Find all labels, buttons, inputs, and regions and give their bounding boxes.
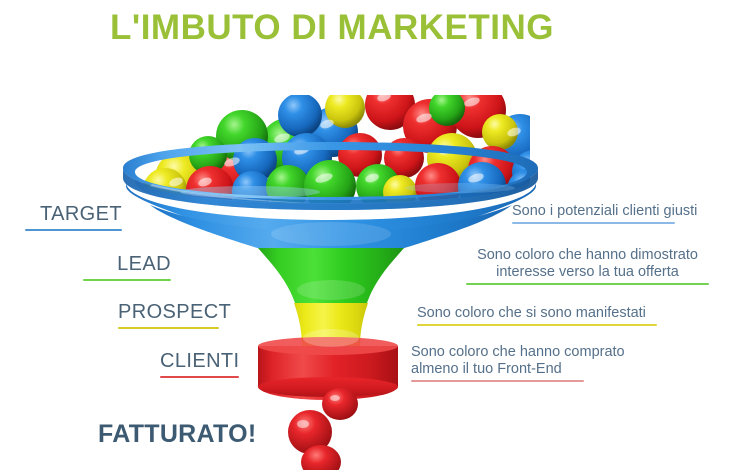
stage-description-lead: Sono coloro che hanno dimostrato interes… — [466, 247, 709, 285]
stage-description-clienti: Sono coloro che hanno comprato almeno il… — [411, 344, 584, 382]
funnel-band-clienti — [258, 346, 398, 400]
funnel-balls-group — [143, 80, 622, 214]
stage-description-prospect-line-1: Sono coloro che si sono manifestati — [417, 305, 646, 321]
funnel-band-lead — [272, 250, 390, 292]
stage-description-prospect-rule — [417, 324, 657, 326]
infographic-canvas: L'IMBUTO DI MARKETING — [0, 0, 740, 470]
stage-label-lead[interactable]: LEAD — [83, 253, 171, 281]
stage-label-clienti-text: CLIENTI — [160, 350, 239, 373]
stage-label-lead-rule — [83, 279, 171, 281]
stage-description-prospect: Sono coloro che si sono manifestati — [417, 305, 657, 326]
stage-description-target-line-1: Sono i potenziali clienti giusti — [512, 203, 697, 219]
funnel-rim — [123, 142, 538, 200]
stage-description-target: Sono i potenziali clienti giusti — [512, 203, 675, 224]
stage-description-clienti-line-2: almeno il tuo Front-End — [411, 361, 562, 377]
stage-label-prospect-text: PROSPECT — [118, 301, 219, 324]
stage-label-target-text: TARGET — [25, 203, 122, 226]
stage-label-target[interactable]: TARGET — [25, 203, 122, 231]
funnel-band-prospect — [294, 303, 368, 346]
stage-description-lead-rule — [466, 283, 709, 285]
stage-description-target-rule — [512, 222, 675, 224]
stage-label-lead-text: LEAD — [83, 253, 171, 276]
page-title: L'IMBUTO DI MARKETING — [110, 8, 630, 48]
stage-description-lead-line-2: interesse verso la tua offerta — [496, 264, 679, 280]
stage-label-clienti[interactable]: CLIENTI — [160, 350, 239, 378]
stage-description-clienti-rule — [411, 380, 584, 382]
stage-label-target-rule — [25, 229, 122, 231]
marketing-funnel-illustration — [0, 0, 740, 470]
stage-label-clienti-rule — [160, 376, 239, 378]
stage-label-prospect-rule — [118, 327, 219, 329]
stage-description-lead-line-1: Sono coloro che hanno dimostrato — [477, 247, 698, 263]
stage-description-clienti-line-1: Sono coloro che hanno comprato — [411, 344, 625, 360]
funnel-band-target — [126, 182, 536, 256]
stage-label-prospect[interactable]: PROSPECT — [118, 301, 219, 329]
footer-label: FATTURATO! — [98, 420, 257, 449]
funnel-drops — [288, 388, 358, 470]
